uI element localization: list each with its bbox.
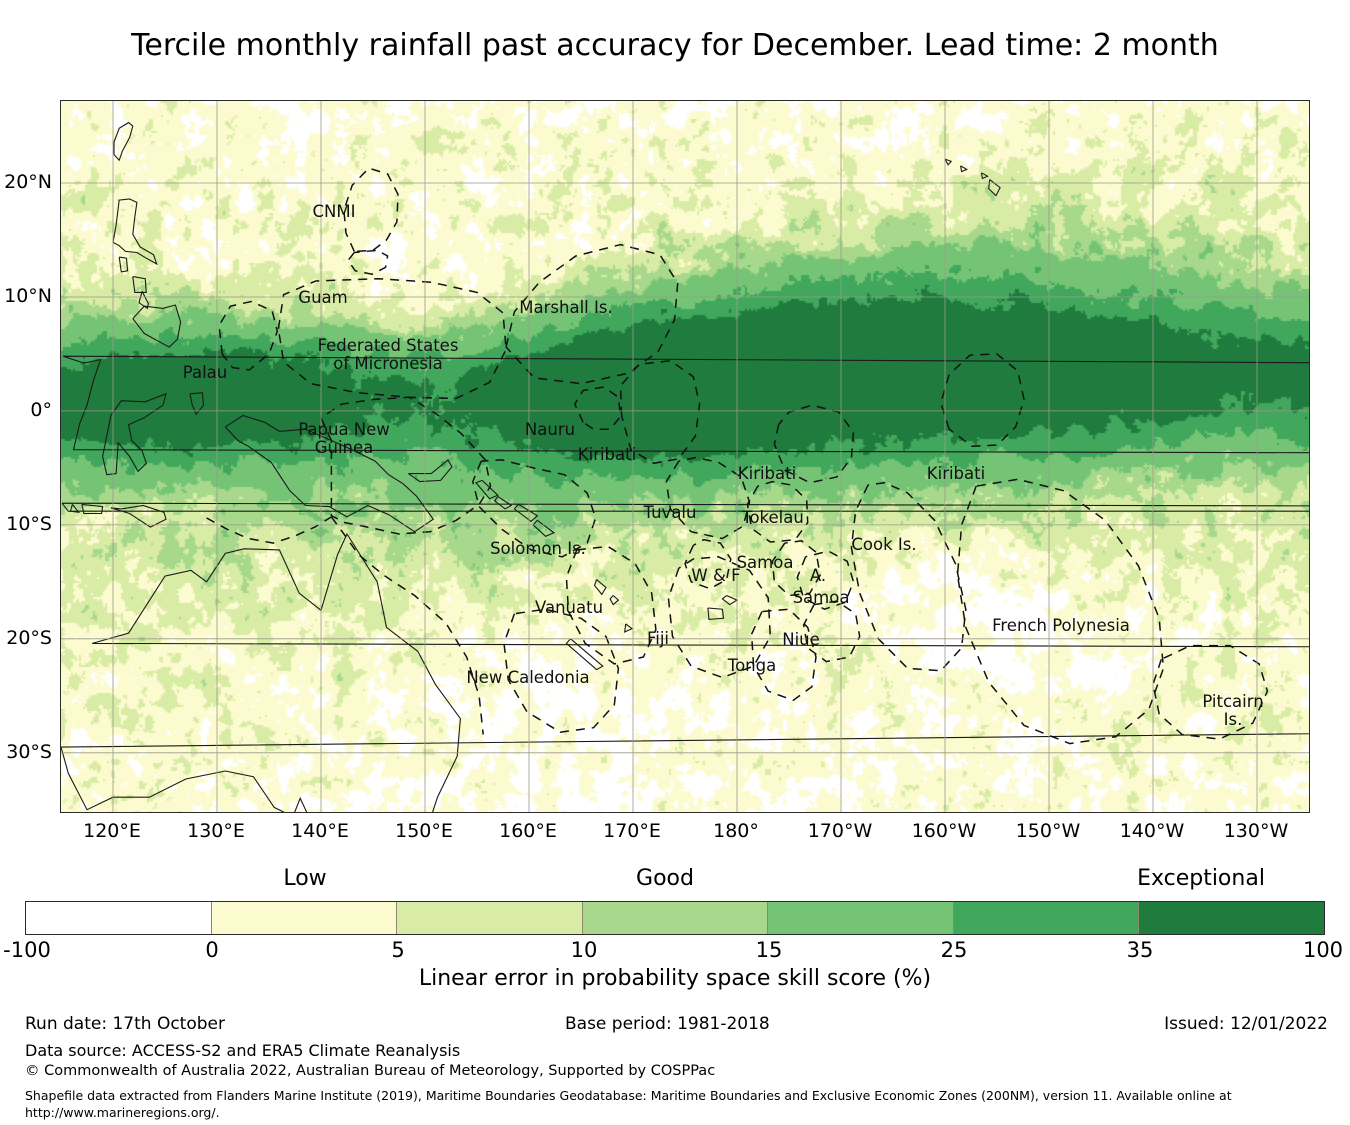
map-region-label: A. bbox=[810, 567, 826, 585]
colorbar-tick-label: 100 bbox=[1303, 938, 1343, 962]
x-tick-label: 150°E bbox=[395, 820, 453, 842]
map-region-label: Solomon Is. bbox=[490, 540, 586, 558]
colorbar-segment-0 bbox=[26, 902, 211, 934]
x-tick-label: 160°W bbox=[912, 820, 977, 842]
colorbar-category-labels: LowGoodExceptional bbox=[0, 866, 1350, 896]
page-title: Tercile monthly rainfall past accuracy f… bbox=[0, 28, 1350, 63]
colorbar-category-good: Good bbox=[636, 866, 694, 891]
copyright-text: © Commonwealth of Australia 2022, Austra… bbox=[25, 1063, 715, 1079]
colorbar-segment-2 bbox=[396, 902, 582, 934]
map-label-layer: CNMIGuamPalauFederated Statesof Micrones… bbox=[61, 101, 1309, 812]
map-region-label: W & F bbox=[691, 567, 740, 585]
map-region-label: Kiribati bbox=[578, 446, 636, 464]
map-region-label: Guam bbox=[298, 289, 347, 307]
map-region-label: Kiribati bbox=[927, 465, 985, 483]
map-region-label: Nauru bbox=[525, 421, 575, 439]
x-tick-label: 160°E bbox=[499, 820, 557, 842]
colorbar-tick-label: -100 bbox=[3, 938, 51, 962]
map-region-label: Niue bbox=[782, 631, 820, 649]
map-region-label: Tonga bbox=[728, 657, 776, 675]
colorbar-segment-1 bbox=[211, 902, 397, 934]
colorbar-tick-label: 35 bbox=[1127, 938, 1154, 962]
map-region-label: New Caledonia bbox=[466, 669, 589, 687]
colorbar-segment-4 bbox=[767, 902, 953, 934]
footer-row-primary: Run date: 17th October Base period: 1981… bbox=[0, 1014, 1350, 1038]
x-tick-label: 170°W bbox=[808, 820, 873, 842]
map-region-label: Tuvalu bbox=[644, 504, 697, 522]
x-tick-label: 130°E bbox=[187, 820, 245, 842]
map-region-label: Palau bbox=[183, 364, 227, 382]
colorbar-segment-3 bbox=[582, 902, 768, 934]
shapefile-line-2: http://www.marineregions.org/. bbox=[25, 1105, 1232, 1122]
map-region-label: Vanuatu bbox=[535, 599, 603, 617]
map-region-label: Tokelau bbox=[742, 509, 804, 527]
colorbar-tick-label: 25 bbox=[941, 938, 968, 962]
issued-date-text: Issued: 12/01/2022 bbox=[1164, 1014, 1328, 1034]
map-region-label: Papua NewGuinea bbox=[298, 421, 390, 457]
colorbar-tick-label: 15 bbox=[756, 938, 783, 962]
map-region-label: Kiribati bbox=[738, 465, 796, 483]
map-region-label: Samoa bbox=[793, 589, 850, 607]
map-region-label: CNMI bbox=[313, 203, 356, 221]
y-tick-label: 10°S bbox=[6, 513, 52, 535]
colorbar bbox=[25, 901, 1325, 935]
x-tick-label: 140°W bbox=[1120, 820, 1185, 842]
colorbar-tick-label: 10 bbox=[571, 938, 598, 962]
map-region-label: Federated Statesof Micronesia bbox=[318, 337, 459, 373]
map-region-label: Fiji bbox=[647, 630, 669, 648]
x-tick-label: 120°E bbox=[83, 820, 141, 842]
x-tick-label: 140°E bbox=[291, 820, 349, 842]
y-tick-label: 20°S bbox=[6, 627, 52, 649]
y-tick-label: 0° bbox=[30, 399, 52, 421]
map-region-label: Cook Is. bbox=[851, 536, 916, 554]
colorbar-category-low: Low bbox=[283, 866, 326, 891]
colorbar-tick-label: 0 bbox=[205, 938, 218, 962]
base-period-text: Base period: 1981-2018 bbox=[565, 1014, 770, 1034]
colorbar-category-exceptional: Exceptional bbox=[1137, 866, 1265, 891]
data-source-text: Data source: ACCESS-S2 and ERA5 Climate … bbox=[25, 1041, 460, 1060]
colorbar-segment-6 bbox=[1138, 902, 1324, 934]
colorbar-axis-label: Linear error in probability space skill … bbox=[0, 966, 1350, 991]
x-tick-label: 170°E bbox=[603, 820, 661, 842]
colorbar-tick-label: 5 bbox=[391, 938, 404, 962]
x-tick-label: 130°W bbox=[1224, 820, 1289, 842]
y-tick-label: 20°N bbox=[4, 171, 52, 193]
map-region-label: PitcairnIs. bbox=[1202, 693, 1263, 729]
shapefile-attribution: Shapefile data extracted from Flanders M… bbox=[25, 1088, 1232, 1122]
map-region-label: Marshall Is. bbox=[519, 299, 612, 317]
x-tick-label: 180° bbox=[713, 820, 759, 842]
shapefile-line-1: Shapefile data extracted from Flanders M… bbox=[25, 1088, 1232, 1105]
map-region-label: Samoa bbox=[737, 554, 794, 572]
y-tick-label: 10°N bbox=[4, 285, 52, 307]
map-region-label: French Polynesia bbox=[992, 617, 1130, 635]
map-panel: CNMIGuamPalauFederated Statesof Micrones… bbox=[60, 100, 1310, 813]
colorbar-segment-5 bbox=[953, 902, 1139, 934]
y-tick-label: 30°S bbox=[6, 741, 52, 763]
x-tick-label: 150°W bbox=[1016, 820, 1081, 842]
run-date-text: Run date: 17th October bbox=[25, 1014, 225, 1034]
